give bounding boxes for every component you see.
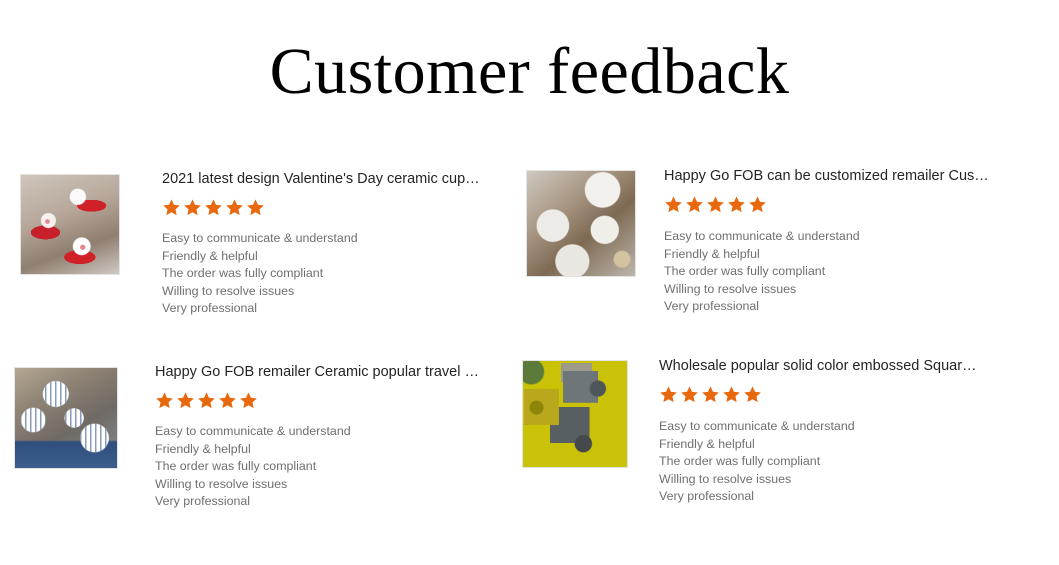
feedback-detail-item: Friendly & helpful	[155, 441, 497, 459]
product-title[interactable]: Happy Go FOB can be customized remailer …	[664, 167, 1032, 185]
star-icon	[225, 198, 244, 217]
feedback-detail-item: Friendly & helpful	[664, 246, 1032, 264]
feedback-detail-item: Easy to communicate & understand	[162, 230, 508, 248]
product-image-marble-cups	[527, 171, 635, 276]
star-icon	[162, 198, 181, 217]
product-title[interactable]: 2021 latest design Valentine's Day ceram…	[162, 170, 508, 188]
product-title[interactable]: Wholesale popular solid color embossed S…	[659, 357, 1029, 375]
star-icon	[176, 391, 195, 410]
star-icon	[218, 391, 237, 410]
feedback-detail-item: Friendly & helpful	[162, 248, 508, 266]
star-icon	[722, 385, 741, 404]
product-title[interactable]: Happy Go FOB remailer Ceramic popular tr…	[155, 363, 497, 381]
star-icon	[706, 195, 725, 214]
feedback-card[interactable]: Wholesale popular solid color embossed S…	[519, 357, 1054, 506]
star-icon	[680, 385, 699, 404]
feedback-detail-item: Very professional	[659, 488, 1029, 506]
feedback-detail-item: The order was fully compliant	[155, 458, 497, 476]
feedback-detail-item: Willing to resolve issues	[162, 283, 508, 301]
feedback-card-body: Happy Go FOB remailer Ceramic popular tr…	[155, 363, 497, 511]
rating-stars	[659, 385, 1029, 404]
feedback-detail-item: Easy to communicate & understand	[155, 423, 497, 441]
star-icon	[748, 195, 767, 214]
star-icon	[701, 385, 720, 404]
rating-stars	[664, 195, 1032, 214]
feedback-detail-item: Willing to resolve issues	[659, 471, 1029, 489]
product-thumbnail[interactable]	[14, 367, 118, 469]
feedback-detail-item: Friendly & helpful	[659, 436, 1029, 454]
feedback-detail-item: Easy to communicate & understand	[659, 418, 1029, 436]
feedback-detail-list: Easy to communicate & understand Friendl…	[155, 423, 497, 511]
customer-feedback-page: Customer feedback 2021 latest design Val…	[0, 0, 1059, 565]
feedback-detail-item: Willing to resolve issues	[155, 476, 497, 494]
feedback-detail-list: Easy to communicate & understand Friendl…	[659, 418, 1029, 506]
product-thumbnail[interactable]	[20, 174, 120, 275]
product-image-square-embossed-set	[523, 361, 627, 467]
product-thumbnail[interactable]	[526, 170, 636, 277]
star-icon	[197, 391, 216, 410]
feedback-card-body: Happy Go FOB can be customized remailer …	[664, 167, 1032, 316]
feedback-detail-item: Willing to resolve issues	[664, 281, 1032, 299]
feedback-detail-item: Very professional	[664, 298, 1032, 316]
feedback-detail-item: Easy to communicate & understand	[664, 228, 1032, 246]
star-icon	[204, 198, 223, 217]
feedback-detail-item: The order was fully compliant	[162, 265, 508, 283]
feedback-card-body: 2021 latest design Valentine's Day ceram…	[162, 170, 508, 318]
feedback-detail-item: The order was fully compliant	[664, 263, 1032, 281]
feedback-detail-list: Easy to communicate & understand Friendl…	[162, 230, 508, 318]
page-title: Customer feedback	[0, 33, 1059, 111]
feedback-card[interactable]: Happy Go FOB remailer Ceramic popular tr…	[10, 363, 530, 511]
star-icon	[155, 391, 174, 410]
feedback-detail-item: The order was fully compliant	[659, 453, 1029, 471]
rating-stars	[155, 391, 497, 410]
product-thumbnail[interactable]	[522, 360, 628, 468]
star-icon	[239, 391, 258, 410]
star-icon	[685, 195, 704, 214]
feedback-detail-item: Very professional	[162, 300, 508, 318]
feedback-detail-list: Easy to communicate & understand Friendl…	[664, 228, 1032, 316]
product-image-blue-patterned-mugs	[15, 368, 117, 468]
star-icon	[664, 195, 683, 214]
star-icon	[183, 198, 202, 217]
star-icon	[246, 198, 265, 217]
star-icon	[659, 385, 678, 404]
feedback-card[interactable]: Happy Go FOB can be customized remailer …	[522, 167, 1052, 316]
rating-stars	[162, 198, 508, 217]
feedback-card-body: Wholesale popular solid color embossed S…	[659, 357, 1029, 506]
product-image-valentine-cups	[21, 175, 119, 274]
star-icon	[743, 385, 762, 404]
feedback-detail-item: Very professional	[155, 493, 497, 511]
star-icon	[727, 195, 746, 214]
feedback-card[interactable]: 2021 latest design Valentine's Day ceram…	[14, 170, 534, 318]
